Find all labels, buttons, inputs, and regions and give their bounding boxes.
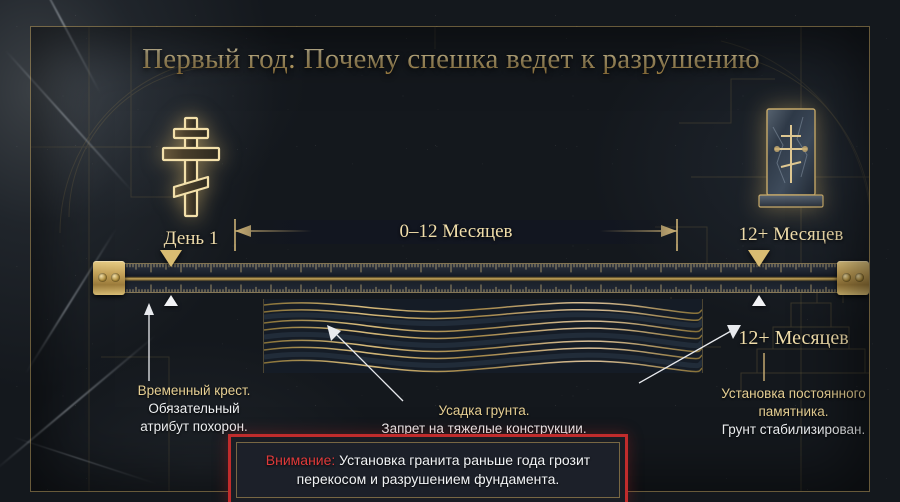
caption-right: Установка постоянного памятника. Грунт с…	[681, 385, 870, 438]
ruler-marker-start	[160, 250, 182, 267]
warning-line1: Установка гранита раньше года грозит	[335, 452, 590, 468]
timeline-node-end: 12+ Месяцев	[721, 105, 861, 246]
orthodox-cross-icon	[131, 115, 251, 224]
rivet-icon	[842, 273, 851, 282]
timeline-node-end-label: 12+ Месяцев	[721, 224, 861, 246]
page-title: Первый год: Почему спешка ведет к разруш…	[31, 43, 870, 76]
warning-line2: перекосом и разрушением фундамента.	[297, 471, 560, 487]
ruler-marker-end	[748, 250, 770, 267]
ruler	[93, 263, 869, 293]
ruler-cap-left	[93, 261, 125, 295]
warning-banner: Внимание: Установка гранита раньше года …	[228, 434, 628, 502]
timeline-span-label: 0–12 Месяцев	[231, 220, 681, 244]
rivet-icon	[111, 273, 120, 282]
content-panel: Первый год: Почему спешка ведет к разруш…	[30, 26, 870, 492]
caption-left-line2: атрибут похорон.	[79, 418, 309, 436]
granite-monument-icon	[721, 105, 861, 222]
caption-left: Временный крест. Обязательный атрибут по…	[79, 382, 309, 435]
caption-center: Усадка грунта. Запрет на тяжелые констру…	[349, 402, 619, 438]
ruler-pointer-end	[752, 295, 766, 306]
leader-line-left	[139, 303, 159, 381]
ruler-ticks	[121, 264, 841, 292]
leader-line-right-stem	[762, 353, 766, 381]
caption-left-heading: Временный крест.	[79, 382, 309, 400]
caption-left-line1: Обязательный	[79, 400, 309, 418]
caption-right-line3: Грунт стабилизирован.	[681, 421, 870, 439]
warning-lead: Внимание:	[266, 452, 336, 468]
ruler-body	[121, 263, 841, 293]
caption-right-line1: Установка постоянного	[681, 385, 870, 403]
warning-banner-inner: Внимание: Установка гранита раньше года …	[236, 442, 620, 498]
caption-right-line2: памятника.	[681, 403, 870, 421]
rivet-icon	[855, 273, 864, 282]
soil-settlement-waves	[263, 299, 703, 373]
rivet-icon	[98, 273, 107, 282]
caption-right-heading: 12+ Месяцев	[681, 327, 870, 350]
ruler-pointer-start	[164, 295, 178, 306]
caption-center-heading: Усадка грунта.	[349, 402, 619, 420]
ruler-cap-right	[837, 261, 869, 295]
infographic-stage: Первый год: Почему спешка ведет к разруш…	[0, 0, 900, 502]
